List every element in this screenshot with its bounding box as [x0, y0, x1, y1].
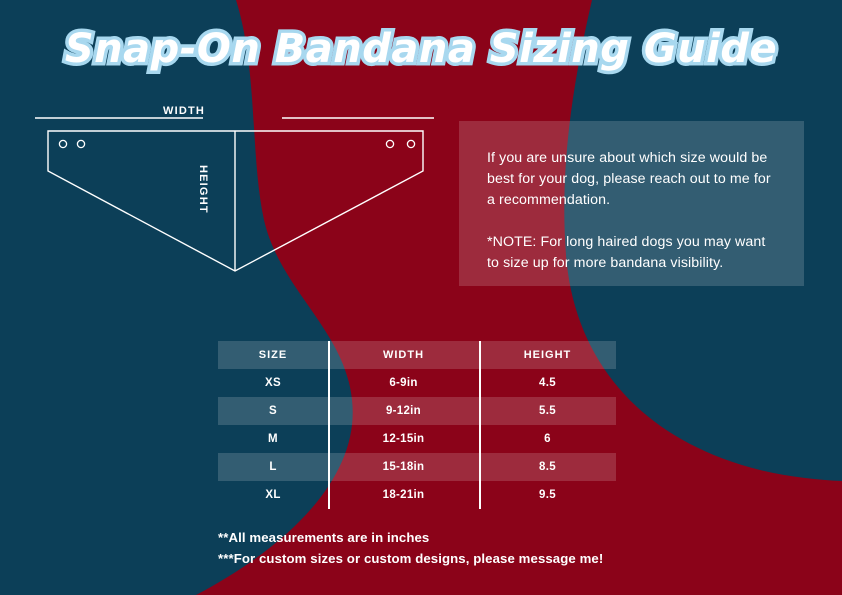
table-header-size: SIZE — [218, 341, 328, 369]
table-header-width: WIDTH — [328, 341, 479, 369]
table-row: L 15-18in 8.5 — [218, 453, 616, 481]
table-header-row: SIZE WIDTH HEIGHT — [218, 341, 616, 369]
snap-hole-icon — [77, 140, 84, 147]
footnotes: **All measurements are in inches ***For … — [218, 527, 603, 569]
snap-hole-icon — [386, 140, 393, 147]
width-dimension-label: WIDTH — [163, 105, 205, 117]
cell-width: 9-12in — [328, 397, 479, 425]
table-row: XL 18-21in 9.5 — [218, 481, 616, 509]
table-column-divider — [479, 341, 481, 509]
page-title: Snap-On Bandana Sizing Guide — [0, 26, 842, 72]
table-row: M 12-15in 6 — [218, 425, 616, 453]
table-row: XS 6-9in 4.5 — [218, 369, 616, 397]
cell-height: 6 — [479, 425, 616, 453]
recommendation-note-box: If you are unsure about which size would… — [459, 121, 804, 286]
sizing-guide-canvas: Snap-On Bandana Sizing Guide WIDTH HEIGH… — [0, 0, 842, 595]
table-row: S 9-12in 5.5 — [218, 397, 616, 425]
cell-width: 6-9in — [328, 369, 479, 397]
cell-width: 12-15in — [328, 425, 479, 453]
sizing-table: SIZE WIDTH HEIGHT XS 6-9in 4.5 S 9-12in … — [218, 341, 616, 509]
cell-size: L — [218, 453, 328, 481]
cell-size: XS — [218, 369, 328, 397]
snap-hole-icon — [59, 140, 66, 147]
cell-height: 5.5 — [479, 397, 616, 425]
cell-size: S — [218, 397, 328, 425]
note-paragraph-2: *NOTE: For long haired dogs you may want… — [487, 232, 776, 274]
bandana-diagram — [30, 105, 440, 290]
height-dimension-label: HEIGHT — [197, 165, 209, 214]
footnote-custom-sizes: ***For custom sizes or custom designs, p… — [218, 548, 603, 569]
snap-hole-icon — [407, 140, 414, 147]
cell-size: XL — [218, 481, 328, 509]
cell-height: 9.5 — [479, 481, 616, 509]
note-paragraph-1: If you are unsure about which size would… — [487, 148, 776, 211]
cell-width: 15-18in — [328, 453, 479, 481]
cell-height: 4.5 — [479, 369, 616, 397]
cell-height: 8.5 — [479, 453, 616, 481]
table-column-divider — [328, 341, 330, 509]
table-header-height: HEIGHT — [479, 341, 616, 369]
cell-width: 18-21in — [328, 481, 479, 509]
footnote-measurements: **All measurements are in inches — [218, 527, 603, 548]
cell-size: M — [218, 425, 328, 453]
